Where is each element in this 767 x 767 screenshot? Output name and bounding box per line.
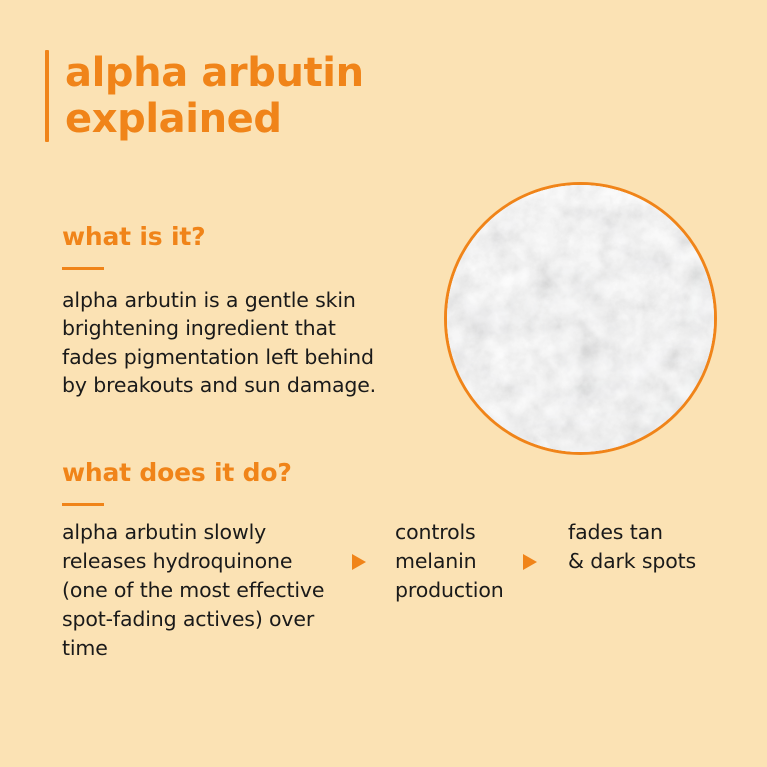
step-item-3: fades tan & dark spots bbox=[568, 518, 748, 576]
section-heading-what-is-it: what is it? bbox=[62, 222, 205, 251]
triangle-right-icon bbox=[352, 554, 366, 570]
ingredient-photo-circle bbox=[444, 182, 717, 455]
step-item-2: controls melanin production bbox=[395, 518, 535, 605]
section-rule-what-does-it-do bbox=[62, 503, 104, 506]
infographic-page: alpha arbutin explained what is it? alph… bbox=[0, 0, 767, 767]
steps-row: alpha arbutin slowly releases hydroquino… bbox=[0, 518, 767, 688]
triangle-right-icon bbox=[523, 554, 537, 570]
step-item-1: alpha arbutin slowly releases hydroquino… bbox=[62, 518, 362, 664]
page-title-block: alpha arbutin explained bbox=[45, 50, 364, 142]
page-title: alpha arbutin explained bbox=[65, 50, 364, 142]
title-accent-bar bbox=[45, 50, 49, 142]
section-body-what-is-it: alpha arbutin is a gentle skin brighteni… bbox=[62, 286, 402, 399]
section-heading-what-does-it-do: what does it do? bbox=[62, 458, 292, 487]
section-rule-what-is-it bbox=[62, 267, 104, 270]
